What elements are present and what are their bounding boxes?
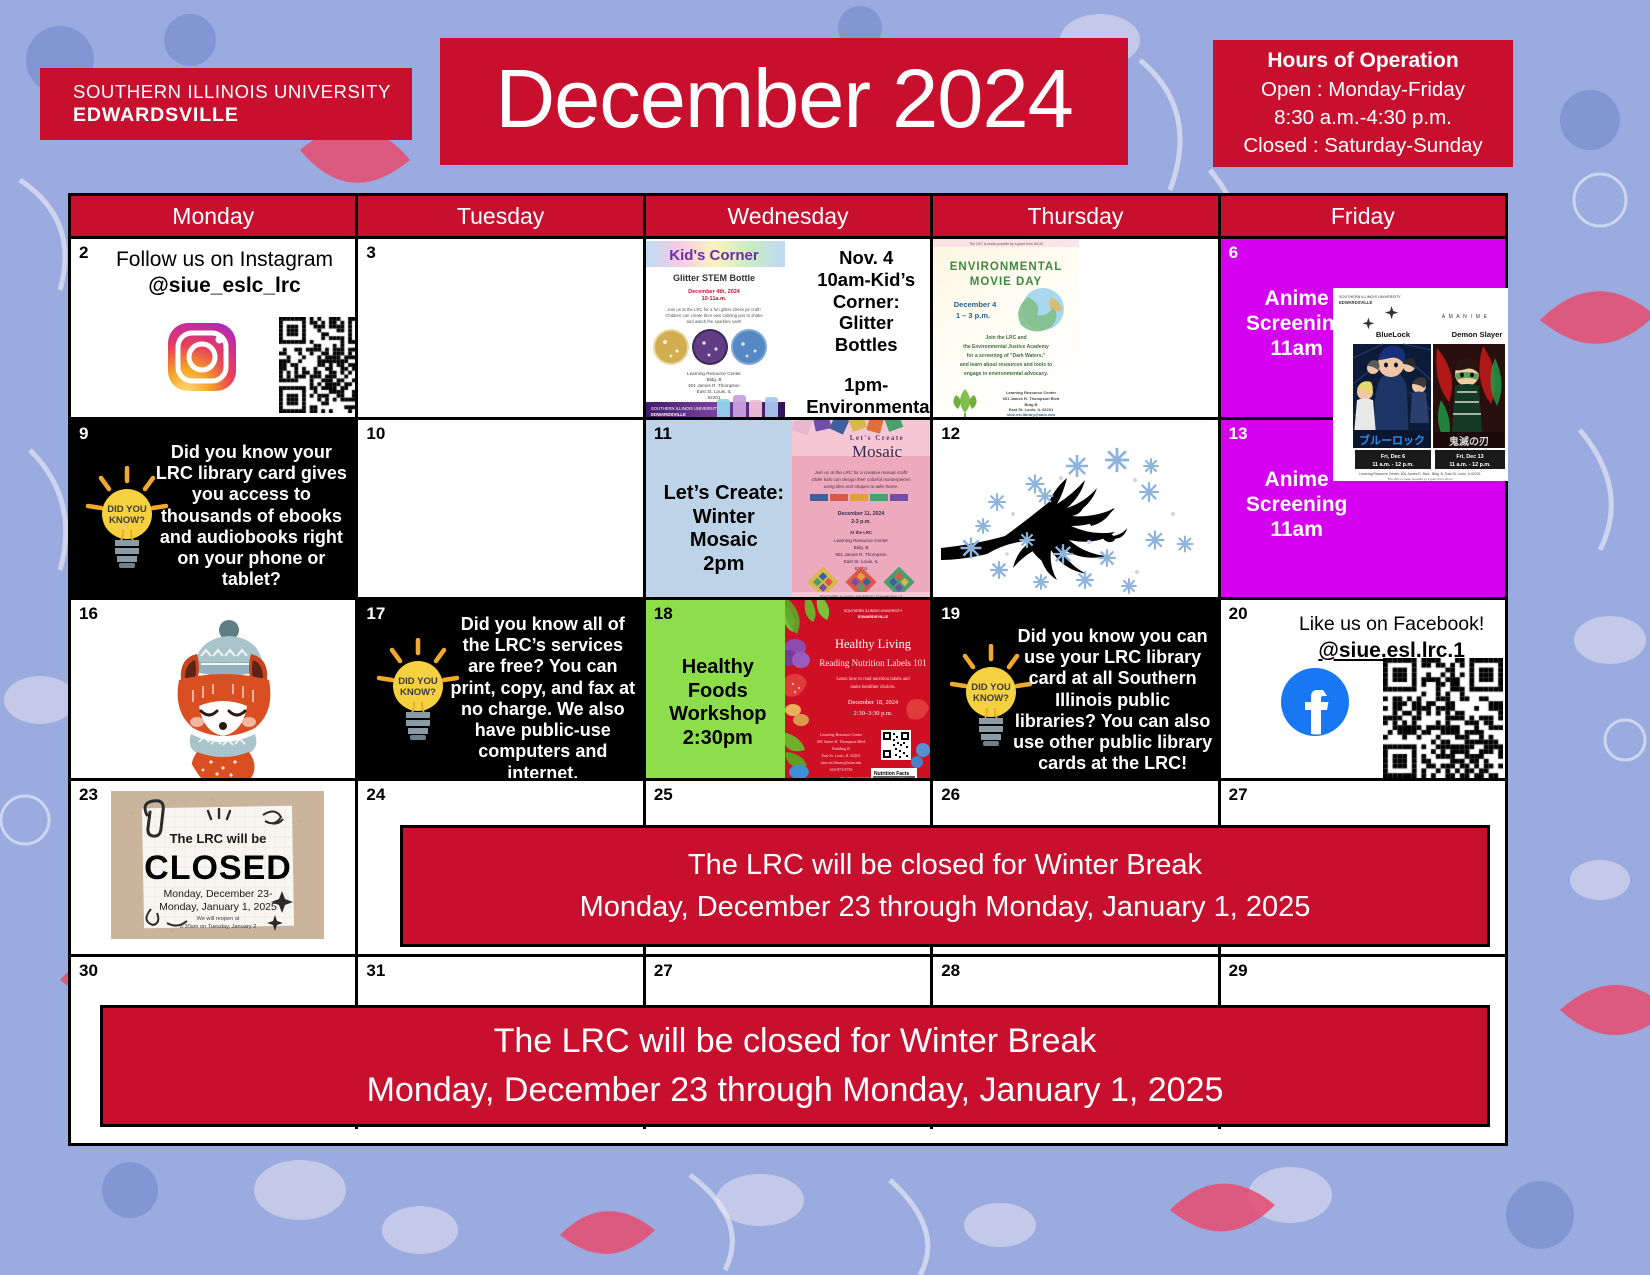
day-cell-18[interactable]: 18 Healthy Foods Workshop 2:30pm <box>646 600 933 778</box>
day-number: 11 <box>654 424 672 444</box>
svg-text:CLOSED: CLOSED <box>144 849 292 887</box>
svg-text:1 – 3 p.m.: 1 – 3 p.m. <box>956 311 990 320</box>
weekday-monday: Monday <box>71 196 358 236</box>
svg-text:MOVIE DAY: MOVIE DAY <box>970 276 1042 288</box>
winter-branch-snowflakes-illustration <box>939 444 1217 594</box>
day-cell-10[interactable]: 10 <box>358 420 645 597</box>
hours-title: Hours of Operation <box>1267 47 1458 76</box>
svg-text:for a screening of "Dark Water: for a screening of "Dark Waters," <box>967 353 1046 359</box>
day-cell-4[interactable]: Kid's Corner Glitter STEM Bottle Decembe… <box>646 239 933 417</box>
day-number: 2 <box>79 243 88 263</box>
svg-text:8:30am on Tuesday, January 2: 8:30am on Tuesday, January 2 <box>180 924 256 930</box>
kids-corner-flyer[interactable]: Kid's Corner Glitter STEM Bottle Decembe… <box>646 239 785 417</box>
day-number: 6 <box>1229 243 1238 263</box>
day-number: 19 <box>941 604 960 624</box>
calendar-grid: Monday Tuesday Wednesday Thursday Friday… <box>68 193 1508 1146</box>
svg-text:EDWARDSVILLE: EDWARDSVILLE <box>1339 300 1372 305</box>
day-number: 3 <box>366 243 375 263</box>
anime-line-3: 11am <box>1243 518 1351 543</box>
winter-break-banner-1-line1: The LRC will be closed for Winter Break <box>688 844 1202 886</box>
svg-text:Glitter STEM Bottle: Glitter STEM Bottle <box>673 273 755 283</box>
svg-text:KNOW?: KNOW? <box>973 693 1009 704</box>
event-line-5: 1pm- <box>806 374 926 396</box>
svg-text:ENVIRONMENTAL: ENVIRONMENTAL <box>950 261 1062 273</box>
instagram-qr-code[interactable] <box>279 317 358 413</box>
svg-text:601 James R. Thompson Blvd: 601 James R. Thompson Blvd <box>1003 396 1060 401</box>
day-cell-23[interactable]: 23 <box>71 781 358 954</box>
facebook-qr-code[interactable] <box>1383 658 1503 778</box>
did-you-know-text-9: Did you know your LRC library card gives… <box>151 442 351 591</box>
mosaic-event-text: Let’s Create: Winter Mosaic 2pm <box>654 482 794 576</box>
winter-break-banner-2: The LRC will be closed for Winter Break … <box>100 1005 1490 1127</box>
svg-text:Reading Nutrition Labels 101: Reading Nutrition Labels 101 <box>820 658 927 668</box>
svg-text:The LRC is made possible by a: The LRC is made possible by a grant from… <box>970 242 1043 246</box>
svg-text:BlueLock: BlueLock <box>1376 330 1411 339</box>
day-number: 29 <box>1229 961 1248 981</box>
svg-text:East St. Louis, IL: East St. Louis, IL <box>844 559 879 564</box>
svg-text:December 4: December 4 <box>954 300 997 309</box>
day-number: 10 <box>366 424 385 444</box>
svg-text:and learn about resources and: and learn about resources and tools to <box>960 362 1052 368</box>
svg-text:Monday, January 1, 2025: Monday, January 1, 2025 <box>159 901 277 913</box>
page-header: SOUTHERN ILLINOIS UNIVERSITY EDWARDSVILL… <box>0 0 1650 190</box>
healthy-living-flyer[interactable]: SOUTHERN ILLINOIS UNIVERSITY EDWARDSVILL… <box>785 600 931 778</box>
svg-text:A M A N I M E: A M A N I M E <box>1442 314 1488 320</box>
svg-text:At the LRC: At the LRC <box>850 530 872 535</box>
wednesday-events-text: Nov. 4 10am-Kid’s Corner: Glitter Bottle… <box>806 247 926 417</box>
day-cell-9[interactable]: 9 DID YOU KNOW? Did you know your LRC <box>71 420 358 597</box>
svg-text:Let's Create: Let's Create <box>850 434 905 442</box>
svg-text:Healthy Living: Healthy Living <box>835 637 912 651</box>
facebook-icon[interactable] <box>1279 666 1351 738</box>
day-cell-19[interactable]: 19 DID YOU KNOW? Did you know you can <box>933 600 1220 778</box>
weekday-tuesday: Tuesday <box>358 196 645 236</box>
page-title: December 2024 <box>495 57 1073 140</box>
svg-text:Bldg. B: Bldg. B <box>706 377 721 382</box>
day-number: 31 <box>366 961 385 981</box>
svg-text:Older kids can design their co: Older kids can design their colorful mas… <box>812 477 912 482</box>
svg-text:Join us at the LRC for a fun g: Join us at the LRC for a fun glitter str… <box>667 307 760 312</box>
svg-text:Monday, December 23-: Monday, December 23- <box>164 888 273 900</box>
day-number: 13 <box>1229 424 1248 444</box>
healthy-line-2: Workshop <box>650 703 786 727</box>
day-number: 27 <box>654 961 673 981</box>
svg-text:10-11a.m.: 10-11a.m. <box>701 296 726 302</box>
svg-text:Learn how to read nutrition la: Learn how to read nutrition labels and <box>837 677 911 682</box>
svg-text:SOUTHERN ILLINOIS UNIVERSITY: SOUTHERN ILLINOIS UNIVERSITY <box>1339 295 1401 299</box>
day-number: 25 <box>654 785 673 805</box>
svg-text:DID YOU: DID YOU <box>972 682 1012 693</box>
svg-text:SOUTHERN ILLINOIS UNIVERSITY: SOUTHERN ILLINOIS UNIVERSITY EDWARDSVILL… <box>820 595 903 597</box>
svg-text:Learning Resource Center: Learning Resource Center <box>687 371 741 376</box>
day-number: 23 <box>79 785 98 805</box>
svg-text:SOUTHERN ILLINOIS UNIVERSITY: SOUTHERN ILLINOIS UNIVERSITY <box>844 609 903 613</box>
day-cell-12[interactable]: 12 <box>933 420 1220 597</box>
siue-logo: SOUTHERN ILLINOIS UNIVERSITY EDWARDSVILL… <box>40 68 412 140</box>
day-number: 12 <box>941 424 960 444</box>
day-cell-3[interactable]: 3 <box>358 239 645 417</box>
svg-text:KNOW?: KNOW? <box>400 687 436 698</box>
did-you-know-text-19: Did you know you can use your LRC librar… <box>1013 626 1213 775</box>
winter-break-banner-2-line2: Monday, December 23 through Monday, Janu… <box>367 1066 1224 1115</box>
event-line-1: Nov. 4 <box>806 247 926 269</box>
day-number: 20 <box>1229 604 1248 624</box>
day-number: 30 <box>79 961 98 981</box>
svg-text:Building B: Building B <box>832 746 850 751</box>
winter-break-banner-2-line1: The LRC will be closed for Winter Break <box>494 1017 1097 1066</box>
am-anime-poster[interactable]: SOUTHERN ILLINOIS UNIVERSITY EDWARDSVILL… <box>1333 288 1508 481</box>
day-number: 18 <box>654 604 673 624</box>
hours-of-operation-box: Hours of Operation Open : Monday-Friday … <box>1213 40 1513 167</box>
event-line-2: 10am-Kid’s <box>806 269 926 291</box>
winter-fox-illustration <box>145 618 295 778</box>
svg-text:ブルーロック: ブルーロック <box>1359 433 1425 447</box>
hours-closed-days: Closed : Saturday-Sunday <box>1243 132 1482 160</box>
anime-line-2: Screening <box>1243 493 1351 518</box>
svg-text:11 a.m. - 12 p.m.: 11 a.m. - 12 p.m. <box>1372 462 1414 468</box>
day-cell-11[interactable]: 11 Let’s Create: Winter Mosaic 2pm <box>646 420 933 597</box>
day-number: 28 <box>941 961 960 981</box>
svg-text:the Environmental Justice Acad: the Environmental Justice Academy <box>963 344 1049 350</box>
svg-text:2-3 p.m.: 2-3 p.m. <box>851 519 871 525</box>
hours-open-days: Open : Monday-Friday <box>1261 76 1465 104</box>
facebook-promo-line1: Like us on Facebook! <box>1279 612 1505 637</box>
event-line-3: Corner: Glitter <box>806 291 926 335</box>
svg-text:Fri, Dec 13: Fri, Dec 13 <box>1456 454 1483 460</box>
mosaic-line-3: Mosaic <box>654 529 794 553</box>
svg-text:and watch the sparkles swirl!: and watch the sparkles swirl! <box>686 319 741 324</box>
calendar-week-1: 2 Follow us on Instagram @siue_eslc_lrc <box>71 236 1505 417</box>
day-number: 24 <box>366 785 385 805</box>
svg-text:siue.esl.library@siue.edu: siue.esl.library@siue.edu <box>821 760 861 765</box>
healthy-line-1: Healthy Foods <box>650 656 786 703</box>
svg-text:鬼滅の刃: 鬼滅の刃 <box>1449 435 1489 448</box>
svg-text:Learning Resource Center: Learning Resource Center <box>820 732 863 737</box>
svg-text:618-874-8739: 618-874-8739 <box>830 767 853 772</box>
weekday-wednesday: Wednesday <box>646 196 933 236</box>
winter-break-banner-1-line2: Monday, December 23 through Monday, Janu… <box>580 886 1311 928</box>
healthy-line-3: 2:30pm <box>650 727 786 751</box>
mosaic-line-1: Let’s Create: <box>654 482 794 506</box>
day-cell-16[interactable]: 16 <box>71 600 358 778</box>
winter-break-banner-1: The LRC will be closed for Winter Break … <box>400 825 1490 947</box>
svg-text:EDWARDSVILLE: EDWARDSVILLE <box>858 615 889 619</box>
svg-text:Children can create their own: Children can create their own calming ja… <box>665 313 763 318</box>
healthy-foods-event-text: Healthy Foods Workshop 2:30pm <box>650 656 786 750</box>
svg-text:Kid's Corner: Kid's Corner <box>669 247 759 264</box>
svg-text:The LRC is made possible by a: The LRC is made possible by a grant from… <box>841 776 906 778</box>
svg-text:East St. Louis, IL: East St. Louis, IL <box>696 389 731 394</box>
day-cell-20[interactable]: 20 Like us on Facebook! @siue.esl.lrc.1 <box>1221 600 1505 778</box>
instagram-promo-line1: Follow us on Instagram <box>97 247 352 273</box>
svg-text:siue.esl.library@siue.edu: siue.esl.library@siue.edu <box>1007 412 1056 417</box>
day-cell-5[interactable]: The LRC is made possible by a grant from… <box>933 239 1220 417</box>
facebook-promo-text: Like us on Facebook! @siue.esl.lrc.1 <box>1279 612 1505 665</box>
svg-text:using tiles and shapes to take: using tiles and shapes to take home. <box>824 484 899 489</box>
day-cell-2[interactable]: 2 Follow us on Instagram @siue_eslc_lrc <box>71 239 358 417</box>
day-number: 27 <box>1229 785 1248 805</box>
svg-text:Learning Resource Center: Learning Resource Center <box>1006 390 1056 395</box>
instagram-promo-text: Follow us on Instagram @siue_eslc_lrc <box>97 247 352 300</box>
day-cell-17[interactable]: 17 DID YOU KNOW? Did you know all of <box>358 600 645 778</box>
svg-text:Mosaic: Mosaic <box>852 442 903 461</box>
svg-text:KNOW?: KNOW? <box>109 515 145 526</box>
hours-open-times: 8:30 a.m.-4:30 p.m. <box>1274 104 1452 132</box>
svg-text:2:30–3:30 p.m.: 2:30–3:30 p.m. <box>854 710 893 717</box>
svg-text:December 4th, 2024: December 4th, 2024 <box>688 289 741 295</box>
svg-text:Learning Resource Center, 601: Learning Resource Center, 601 James R. B… <box>1359 472 1481 476</box>
logo-campus-name: EDWARDSVILLE <box>73 103 412 127</box>
svg-text:601 James R. Thompson: 601 James R. Thompson <box>836 552 888 557</box>
day-number: 17 <box>366 604 385 624</box>
lets-create-mosaic-flyer[interactable]: Let's Create Mosaic Join us at the LRC f… <box>792 420 931 597</box>
svg-text:December 11, 2024: December 11, 2024 <box>838 511 885 517</box>
calendar-week-2: 9 DID YOU KNOW? Did you know your LRC <box>71 417 1505 597</box>
weekday-friday: Friday <box>1221 196 1505 236</box>
svg-text:Join us at the LRC for a creat: Join us at the LRC for a creative mosaic… <box>814 470 909 475</box>
svg-text:Join the LRC and: Join the LRC and <box>986 335 1027 341</box>
svg-text:11 a.m. - 12 p.m.: 11 a.m. - 12 p.m. <box>1449 462 1491 468</box>
weekday-thursday: Thursday <box>933 196 1220 236</box>
svg-text:The LRC will be: The LRC will be <box>170 831 267 846</box>
svg-text:Demon Slayer: Demon Slayer <box>1452 330 1503 339</box>
day-number: 26 <box>941 785 960 805</box>
calendar-week-3: 16 <box>71 597 1505 778</box>
environmental-movie-day-flyer[interactable]: The LRC is made possible by a grant from… <box>933 239 1079 417</box>
month-title-banner: December 2024 <box>440 38 1128 165</box>
svg-text:DID YOU: DID YOU <box>399 676 439 687</box>
svg-text:make healthier choices.: make healthier choices. <box>851 685 896 690</box>
svg-text:SOUTHERN ILLINOIS UNIVERSITY: SOUTHERN ILLINOIS UNIVERSITY <box>651 406 719 411</box>
svg-text:engage in environmental advoca: engage in environmental advocacy. <box>964 371 1049 377</box>
svg-text:We will reopen at: We will reopen at <box>197 916 240 922</box>
event-line-6: Environmental <box>806 396 926 417</box>
svg-text:Bldg. B: Bldg. B <box>854 545 869 550</box>
svg-text:December 18, 2024: December 18, 2024 <box>848 699 899 706</box>
mosaic-line-4: 2pm <box>654 553 794 577</box>
mosaic-line-2: Winter <box>654 506 794 530</box>
event-line-4: Bottles <box>806 334 926 356</box>
logo-university-name: SOUTHERN ILLINOIS UNIVERSITY <box>73 80 412 103</box>
svg-text:601 James R. Thompson Blvd: 601 James R. Thompson Blvd <box>817 739 865 744</box>
instagram-handle: @siue_eslc_lrc <box>148 274 300 297</box>
svg-text:EDWARDSVILLE: EDWARDSVILLE <box>651 412 686 417</box>
weekday-header-row: Monday Tuesday Wednesday Thursday Friday <box>71 196 1505 236</box>
instagram-icon[interactable] <box>166 321 238 393</box>
svg-text:601 James R. Thompson: 601 James R. Thompson <box>688 383 740 388</box>
svg-text:DID YOU: DID YOU <box>107 504 147 515</box>
svg-text:The LRC is made possible by a: The LRC is made possible by a grant from… <box>1388 477 1453 481</box>
svg-text:Learning Resource Center: Learning Resource Center <box>834 538 888 543</box>
svg-text:Fri, Dec 6: Fri, Dec 6 <box>1381 454 1405 460</box>
did-you-know-text-17: Did you know all of the LRC’s services a… <box>448 614 638 778</box>
day-number: 9 <box>79 424 88 444</box>
day-number: 16 <box>79 604 98 624</box>
lrc-closed-sign[interactable]: The LRC will be CLOSED Monday, December … <box>111 791 324 939</box>
